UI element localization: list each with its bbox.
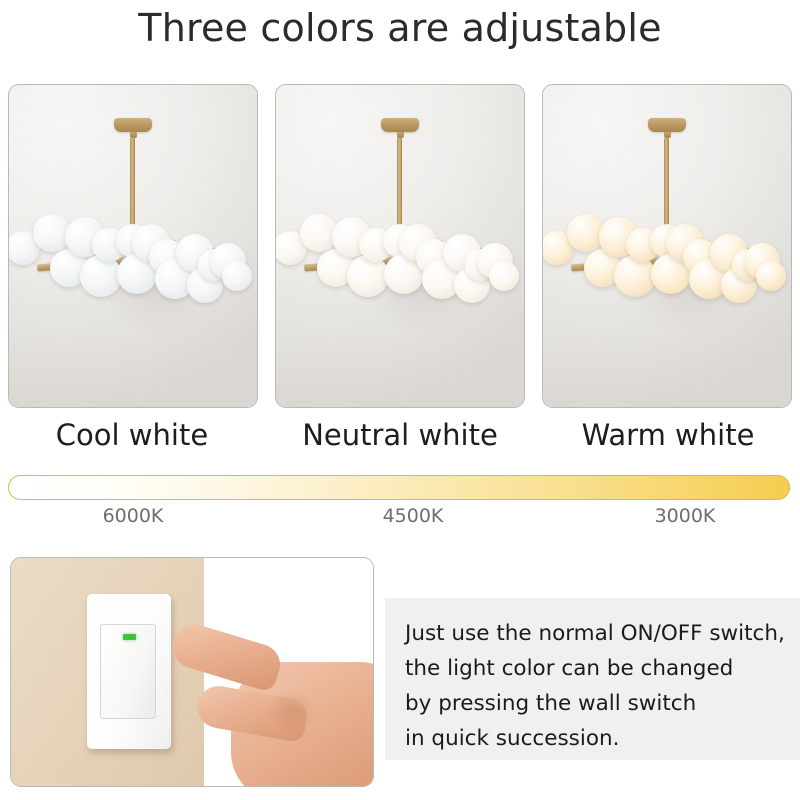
- instruction-line-2: the light color can be changed: [405, 651, 793, 686]
- glass-globe: [614, 255, 656, 297]
- temperature-tick-3000k: 3000K: [625, 505, 745, 527]
- wall-switch-photo: [10, 557, 374, 787]
- instruction-text: Just use the normal ON/OFF switch, the l…: [405, 616, 793, 756]
- ceiling-canopy: [648, 118, 686, 132]
- instruction-line-4: in quick succession.: [405, 721, 793, 756]
- instruction-line-3: by pressing the wall switch: [405, 686, 793, 721]
- color-label-neutral-white: Neutral white: [276, 418, 524, 452]
- temperature-tick-4500k: 4500K: [353, 505, 473, 527]
- product-panel-cool-white: [8, 84, 258, 408]
- color-temperature-gradient-bar: [8, 475, 790, 500]
- light-switch-rocker: [100, 624, 156, 719]
- switch-led-indicator: [123, 634, 136, 640]
- hand-shading: [257, 680, 327, 742]
- color-temperature-tick-row: 6000K 4500K 3000K: [0, 505, 800, 531]
- product-panel-neutral-white: [275, 84, 525, 408]
- hand-index-finger: [167, 619, 285, 693]
- glass-globe: [756, 261, 786, 291]
- page-title: Three colors are adjustable: [0, 6, 800, 50]
- glass-globe: [222, 261, 252, 291]
- glass-globe: [489, 261, 519, 291]
- product-panel-warm-white: [542, 84, 792, 408]
- instruction-line-1: Just use the normal ON/OFF switch,: [405, 616, 793, 651]
- color-label-cool-white: Cool white: [8, 418, 256, 452]
- hand-pointing: [161, 628, 374, 787]
- color-panel-row: [8, 84, 792, 406]
- color-label-row: Cool white Neutral white Warm white: [0, 418, 800, 460]
- light-switch-plate: [87, 594, 171, 749]
- temperature-tick-6000k: 6000K: [73, 505, 193, 527]
- glass-globe: [347, 255, 389, 297]
- instruction-box: Just use the normal ON/OFF switch, the l…: [385, 598, 800, 760]
- ceiling-canopy: [381, 118, 419, 132]
- glass-globe: [80, 255, 122, 297]
- ceiling-canopy: [114, 118, 152, 132]
- color-label-warm-white: Warm white: [544, 418, 792, 452]
